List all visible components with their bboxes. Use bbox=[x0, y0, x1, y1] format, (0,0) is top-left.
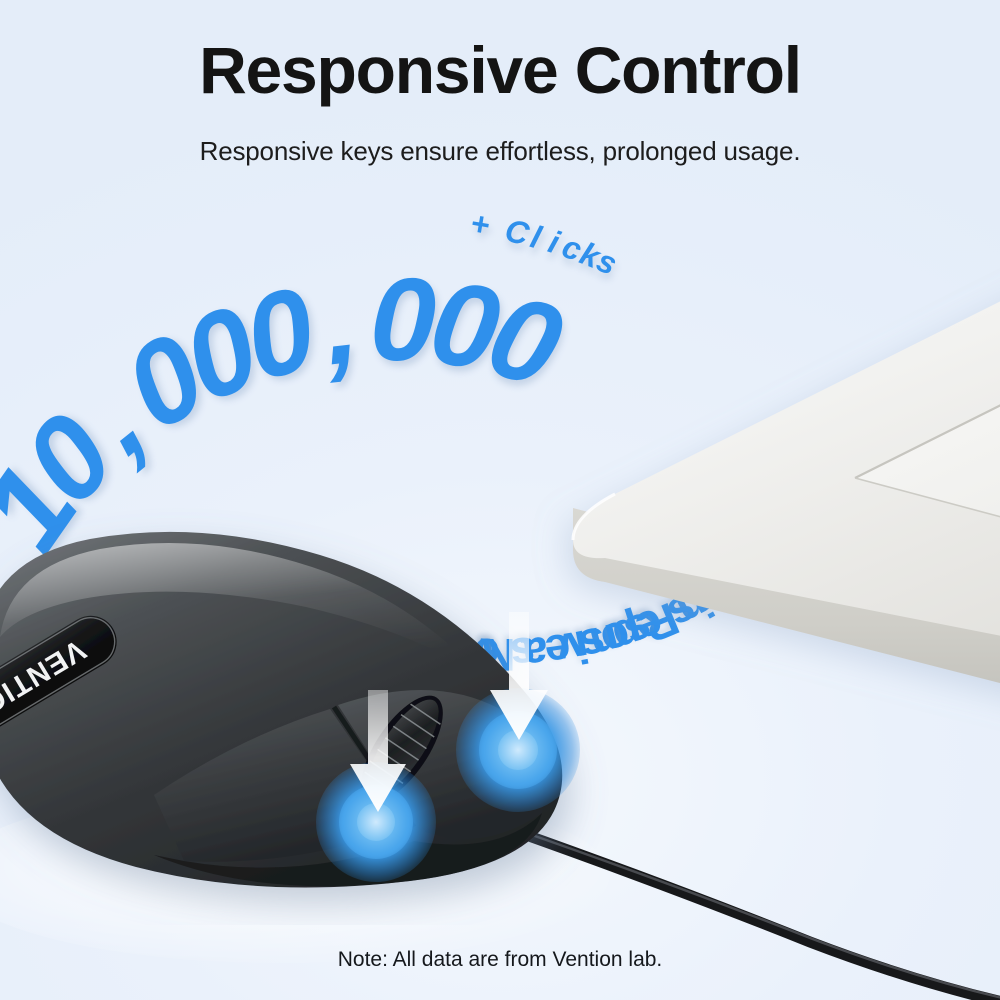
left-click-down-arrow-icon bbox=[348, 690, 408, 820]
stat-number-char: , bbox=[318, 262, 364, 383]
page-title: Responsive Control bbox=[0, 32, 1000, 108]
product-feature-banner: Responsive Control Responsive keys ensur… bbox=[0, 0, 1000, 1000]
footnote: Note: All data are from Vention lab. bbox=[0, 948, 1000, 972]
right-click-down-arrow-icon bbox=[488, 612, 550, 748]
page-subtitle: Responsive keys ensure effortless, prolo… bbox=[0, 136, 1000, 167]
